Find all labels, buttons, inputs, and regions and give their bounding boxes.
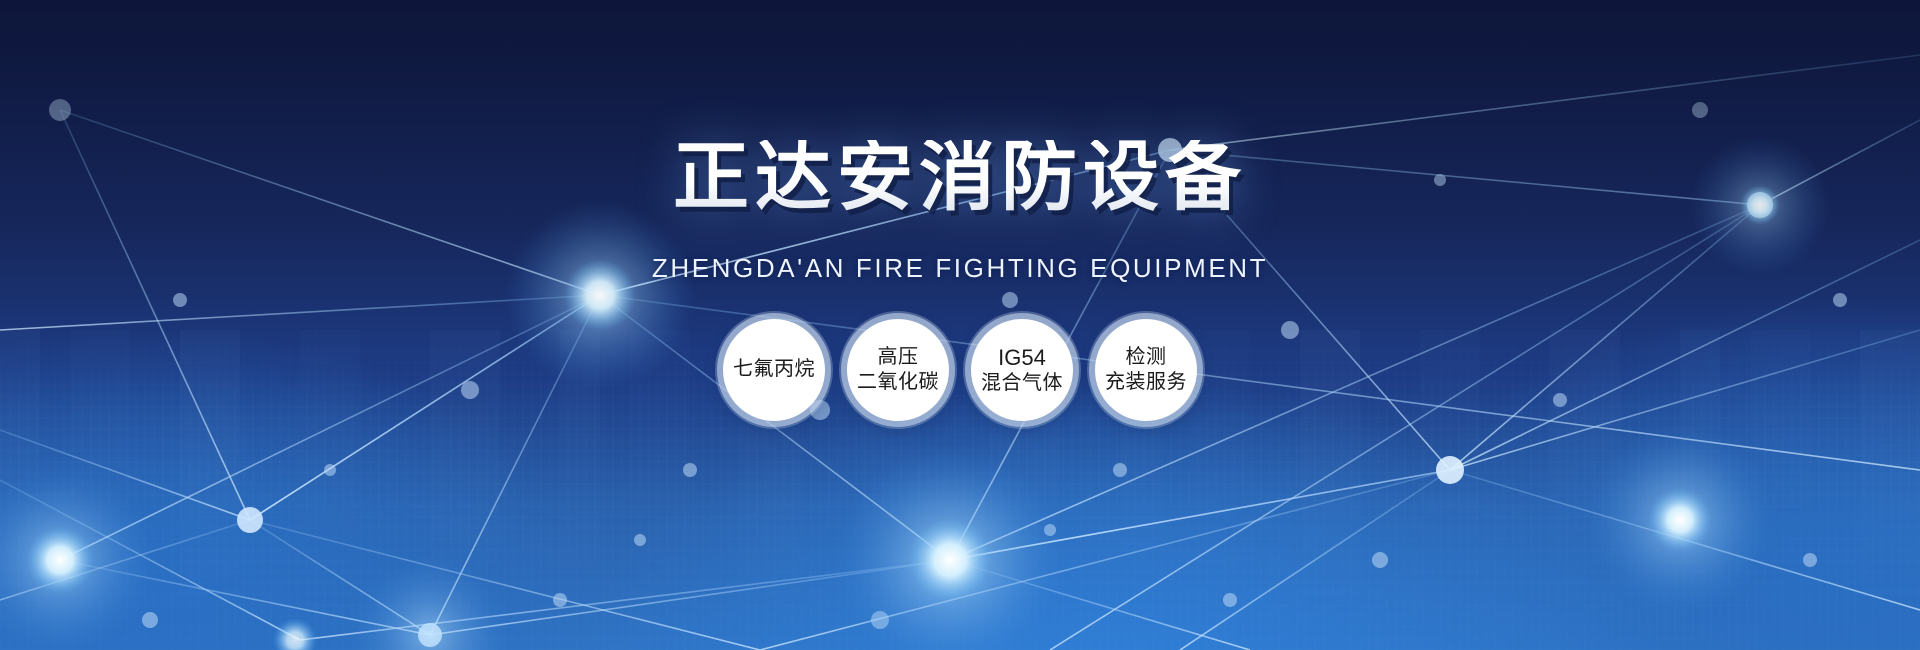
badge-line: 充装服务: [1105, 370, 1187, 395]
badge-line: 二氧化碳: [857, 370, 939, 395]
badge-heptafluoropropane[interactable]: 七氟丙烷: [723, 319, 825, 421]
badge-line: 七氟丙烷: [733, 357, 815, 382]
banner-content: 正达安消防设备 ZHENGDA'AN FIRE FIGHTING EQUIPME…: [0, 0, 1920, 650]
hero-banner: 正达安消防设备 ZHENGDA'AN FIRE FIGHTING EQUIPME…: [0, 0, 1920, 650]
badge-line: 高压: [878, 345, 919, 370]
badge-line: 混合气体: [981, 371, 1063, 396]
product-badge-list: 七氟丙烷 高压 二氧化碳 IG54 混合气体 检测 充装服务: [0, 319, 1920, 421]
badge-ig54-mixed-gas[interactable]: IG54 混合气体: [971, 319, 1073, 421]
badge-line: 检测: [1126, 345, 1167, 370]
badge-inspection-filling-service[interactable]: 检测 充装服务: [1095, 319, 1197, 421]
badge-line: IG54: [998, 344, 1046, 372]
page-title: 正达安消防设备: [0, 140, 1920, 216]
page-subtitle: ZHENGDA'AN FIRE FIGHTING EQUIPMENT: [0, 255, 1920, 281]
badge-high-pressure-co2[interactable]: 高压 二氧化碳: [847, 319, 949, 421]
